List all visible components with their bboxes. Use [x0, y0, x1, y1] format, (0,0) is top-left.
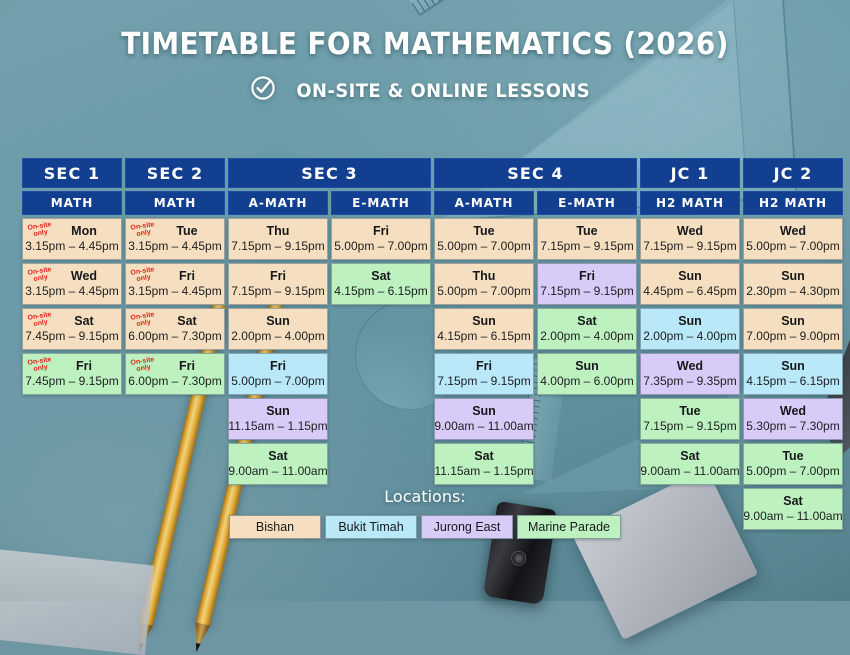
lesson-slot[interactable]: On-siteonlyMon3.15pm – 4.45pm	[22, 218, 122, 260]
lesson-slot[interactable]: Sun11.15am – 1.15pm	[228, 398, 328, 440]
lesson-slot[interactable]: On-siteonlyFri6.00pm – 7.30pm	[125, 353, 225, 395]
subject-column-e-math: E-MATHFri5.00pm – 7.00pmSat4.15pm – 6.15…	[331, 191, 431, 530]
subject-column-e-math: E-MATHTue7.15pm – 9.15pmFri7.15pm – 9.15…	[537, 191, 637, 530]
lesson-slot[interactable]: Sat2.00pm – 4.00pm	[537, 308, 637, 350]
subject-column-math: MATHOn-siteonlyMon3.15pm – 4.45pmOn-site…	[22, 191, 122, 530]
slot-day: Sat	[474, 449, 493, 463]
slot-time: 5.00pm – 7.00pm	[437, 284, 530, 299]
on-site-only-badge: On-siteonly	[27, 311, 53, 329]
timetable-group-jc-1: JC 1H2 MATHWed7.15pm – 9.15pmSun4.45pm –…	[640, 158, 740, 530]
lesson-slot[interactable]: Tue5.00pm – 7.00pm	[743, 443, 843, 485]
slot-time: 6.00pm – 7.30pm	[128, 329, 221, 344]
subtitle-row: ON-SITE & ONLINE LESSONS	[0, 75, 850, 106]
location-chip-list: BishanBukit TimahJurong EastMarine Parad…	[0, 515, 850, 539]
empty-slot	[537, 398, 637, 440]
lesson-slot[interactable]: On-siteonlyFri3.15pm – 4.45pm	[125, 263, 225, 305]
slot-day: Sat	[371, 269, 390, 283]
on-site-only-badge: On-siteonly	[130, 356, 156, 374]
empty-slot	[125, 443, 225, 485]
slot-time: 7.45pm – 9.15pm	[25, 374, 118, 389]
slot-time: 7.15pm – 9.15pm	[231, 239, 324, 254]
slot-day: Sun	[266, 314, 290, 328]
lesson-slot[interactable]: Sat11.15am – 1.15pm	[434, 443, 534, 485]
empty-slot	[125, 398, 225, 440]
slot-day: Sat	[74, 314, 93, 328]
on-site-only-badge: On-siteonly	[27, 221, 53, 239]
subject-header-label: A-MATH	[434, 191, 534, 215]
empty-slot	[22, 398, 122, 440]
slot-time: 2.30pm – 4.30pm	[746, 284, 839, 299]
slot-day: Fri	[476, 359, 492, 373]
lesson-slot[interactable]: On-siteonlySat7.45pm – 9.15pm	[22, 308, 122, 350]
lesson-slot[interactable]: Wed7.35pm – 9.35pm	[640, 353, 740, 395]
slot-time: 3.15pm – 4.45pm	[128, 239, 221, 254]
slot-time: 4.45pm – 6.45pm	[643, 284, 736, 299]
slot-time: 5.30pm – 7.30pm	[746, 419, 839, 434]
slot-time: 7.15pm – 9.15pm	[437, 374, 530, 389]
lesson-slot[interactable]: On-siteonlyWed3.15pm – 4.45pm	[22, 263, 122, 305]
subject-column-a-math: A-MATHThu7.15pm – 9.15pmFri7.15pm – 9.15…	[228, 191, 328, 530]
slot-day: Sun	[472, 314, 496, 328]
slot-day: Sun	[472, 404, 496, 418]
empty-slot	[22, 443, 122, 485]
slot-day: Fri	[579, 269, 595, 283]
lesson-slot[interactable]: Tue5.00pm – 7.00pm	[434, 218, 534, 260]
lesson-slot[interactable]: Fri5.00pm – 7.00pm	[228, 353, 328, 395]
slot-day: Mon	[71, 224, 97, 238]
group-header-label: SEC 2	[125, 158, 225, 188]
slot-time: 3.15pm – 4.45pm	[128, 284, 221, 299]
slot-day: Thu	[267, 224, 290, 238]
subject-column-math: MATHOn-siteonlyTue3.15pm – 4.45pmOn-site…	[125, 191, 225, 530]
on-site-only-badge: On-siteonly	[130, 221, 156, 239]
on-site-only-badge: On-siteonly	[27, 266, 53, 284]
slot-time: 5.00pm – 7.00pm	[746, 239, 839, 254]
lesson-slot[interactable]: Sat9.00am – 11.00am	[640, 443, 740, 485]
slot-day: Tue	[576, 224, 597, 238]
timetable-group-sec-3: SEC 3A-MATHThu7.15pm – 9.15pmFri7.15pm –…	[228, 158, 431, 530]
slot-day: Fri	[270, 269, 286, 283]
slot-day: Sun	[781, 314, 805, 328]
slot-time: 3.15pm – 4.45pm	[25, 239, 118, 254]
poster-header: TIMETABLE FOR MATHEMATICS (2026) ON-SITE…	[0, 0, 850, 106]
lesson-slot[interactable]: Thu5.00pm – 7.00pm	[434, 263, 534, 305]
slot-day: Wed	[780, 404, 806, 418]
lesson-slot[interactable]: Wed7.15pm – 9.15pm	[640, 218, 740, 260]
subject-column-a-math: A-MATHTue5.00pm – 7.00pmThu5.00pm – 7.00…	[434, 191, 534, 530]
on-site-only-badge: On-siteonly	[27, 356, 53, 374]
slot-day: Sun	[781, 269, 805, 283]
slot-day: Sun	[678, 314, 702, 328]
slot-day: Tue	[679, 404, 700, 418]
timetable-group-sec-2: SEC 2MATHOn-siteonlyTue3.15pm – 4.45pmOn…	[125, 158, 225, 530]
slot-day: Sun	[678, 269, 702, 283]
slot-time: 7.45pm – 9.15pm	[25, 329, 118, 344]
locations-label: Locations:	[0, 487, 850, 506]
subtitle-text: ON-SITE & ONLINE LESSONS	[297, 80, 591, 102]
lesson-slot[interactable]: Sat9.00am – 11.00am	[228, 443, 328, 485]
empty-slot	[331, 398, 431, 440]
location-chip-bishan[interactable]: Bishan	[229, 515, 321, 539]
lesson-slot[interactable]: Sun9.00am – 11.00am	[434, 398, 534, 440]
slot-time: 5.00pm – 7.00pm	[231, 374, 324, 389]
slot-time: 2.00pm – 4.00pm	[540, 329, 633, 344]
slot-time: 5.00pm – 7.00pm	[437, 239, 530, 254]
slot-time: 7.35pm – 9.35pm	[643, 374, 736, 389]
lesson-slot[interactable]: Fri7.15pm – 9.15pm	[537, 263, 637, 305]
slot-time: 7.15pm – 9.15pm	[643, 239, 736, 254]
location-chip-jurong-east[interactable]: Jurong East	[421, 515, 513, 539]
empty-slot	[537, 443, 637, 485]
lesson-slot[interactable]: On-siteonlySat6.00pm – 7.30pm	[125, 308, 225, 350]
locations-legend: Locations: BishanBukit TimahJurong EastM…	[0, 487, 850, 539]
lesson-slot[interactable]: Fri7.15pm – 9.15pm	[434, 353, 534, 395]
slot-time: 7.15pm – 9.15pm	[540, 239, 633, 254]
slot-time: 4.15pm – 6.15pm	[746, 374, 839, 389]
slot-time: 11.15am – 1.15pm	[228, 419, 327, 434]
subject-column-h2-math: H2 MATHWed7.15pm – 9.15pmSun4.45pm – 6.4…	[640, 191, 740, 530]
slot-day: Wed	[677, 359, 703, 373]
timetable-group-sec-4: SEC 4A-MATHTue5.00pm – 7.00pmThu5.00pm –…	[434, 158, 637, 530]
group-header-label: JC 2	[743, 158, 843, 188]
subject-header-label: E-MATH	[331, 191, 431, 215]
on-site-only-badge: On-siteonly	[130, 266, 156, 284]
slot-time: 7.15pm – 9.15pm	[540, 284, 633, 299]
slot-day: Wed	[71, 269, 97, 283]
lesson-slot[interactable]: Sun4.45pm – 6.45pm	[640, 263, 740, 305]
slot-day: Fri	[270, 359, 286, 373]
group-subject-columns: MATHOn-siteonlyMon3.15pm – 4.45pmOn-site…	[22, 191, 122, 530]
slot-day: Fri	[179, 359, 195, 373]
lesson-slot[interactable]: Sun2.00pm – 4.00pm	[228, 308, 328, 350]
subject-header-label: A-MATH	[228, 191, 328, 215]
lesson-slot[interactable]: Tue7.15pm – 9.15pm	[537, 218, 637, 260]
group-header-label: JC 1	[640, 158, 740, 188]
lesson-slot[interactable]: Sun4.15pm – 6.15pm	[434, 308, 534, 350]
lesson-slot[interactable]: Sun4.00pm – 6.00pm	[537, 353, 637, 395]
slot-day: Thu	[473, 269, 496, 283]
slot-time: 6.00pm – 7.30pm	[128, 374, 221, 389]
slot-day: Fri	[76, 359, 92, 373]
slot-day: Sun	[781, 359, 805, 373]
lesson-slot[interactable]: Wed5.30pm – 7.30pm	[743, 398, 843, 440]
subject-header-label: E-MATH	[537, 191, 637, 215]
page-title: TIMETABLE FOR MATHEMATICS (2026)	[30, 27, 821, 62]
slot-time: 11.15am – 1.15pm	[434, 464, 533, 479]
lesson-slot[interactable]: Fri5.00pm – 7.00pm	[331, 218, 431, 260]
lesson-slot[interactable]: On-siteonlyFri7.45pm – 9.15pm	[22, 353, 122, 395]
slot-time: 7.15pm – 9.15pm	[643, 419, 736, 434]
group-subject-columns: MATHOn-siteonlyTue3.15pm – 4.45pmOn-site…	[125, 191, 225, 530]
slot-time: 2.00pm – 4.00pm	[231, 329, 324, 344]
subject-header-label: H2 MATH	[743, 191, 843, 215]
lesson-slot[interactable]: On-siteonlyTue3.15pm – 4.45pm	[125, 218, 225, 260]
slot-day: Sat	[680, 449, 699, 463]
group-subject-columns: H2 MATHWed7.15pm – 9.15pmSun4.45pm – 6.4…	[640, 191, 740, 530]
group-subject-columns: A-MATHThu7.15pm – 9.15pmFri7.15pm – 9.15…	[228, 191, 431, 530]
lesson-slot[interactable]: Sun2.00pm – 4.00pm	[640, 308, 740, 350]
timetable-group-jc-2: JC 2H2 MATHWed5.00pm – 7.00pmSun2.30pm –…	[743, 158, 843, 530]
slot-time: 5.00pm – 7.00pm	[746, 464, 839, 479]
slot-day: Wed	[780, 224, 806, 238]
group-header-label: SEC 4	[434, 158, 637, 188]
slot-time: 9.00am – 11.00am	[434, 419, 533, 434]
slot-time: 3.15pm – 4.45pm	[25, 284, 118, 299]
slot-time: 4.15pm – 6.15pm	[437, 329, 530, 344]
slot-time: 9.00am – 11.00am	[640, 464, 739, 479]
slot-day: Sun	[266, 404, 290, 418]
slot-day: Fri	[179, 269, 195, 283]
lesson-slot[interactable]: Sun7.00pm – 9.00pm	[743, 308, 843, 350]
lesson-slot[interactable]: Fri7.15pm – 9.15pm	[228, 263, 328, 305]
slot-time: 7.00pm – 9.00pm	[746, 329, 839, 344]
subject-column-h2-math: H2 MATHWed5.00pm – 7.00pmSun2.30pm – 4.3…	[743, 191, 843, 530]
slot-time: 4.00pm – 6.00pm	[540, 374, 633, 389]
lesson-slot[interactable]: Sun2.30pm – 4.30pm	[743, 263, 843, 305]
location-chip-bukit-timah[interactable]: Bukit Timah	[325, 515, 417, 539]
subject-header-label: H2 MATH	[640, 191, 740, 215]
group-header-label: SEC 3	[228, 158, 431, 188]
empty-slot	[331, 308, 431, 350]
slot-day: Sun	[575, 359, 599, 373]
slot-time: 2.00pm – 4.00pm	[643, 329, 736, 344]
slot-time: 9.00am – 11.00am	[228, 464, 327, 479]
slot-day: Wed	[677, 224, 703, 238]
on-site-only-badge: On-siteonly	[130, 311, 156, 329]
subject-header-label: MATH	[125, 191, 225, 215]
slot-time: 7.15pm – 9.15pm	[231, 284, 324, 299]
group-subject-columns: H2 MATHWed5.00pm – 7.00pmSun2.30pm – 4.3…	[743, 191, 843, 530]
empty-slot	[331, 443, 431, 485]
check-circle-icon	[250, 75, 276, 106]
subject-header-label: MATH	[22, 191, 122, 215]
empty-slot	[331, 353, 431, 395]
group-subject-columns: A-MATHTue5.00pm – 7.00pmThu5.00pm – 7.00…	[434, 191, 637, 530]
lesson-slot[interactable]: Thu7.15pm – 9.15pm	[228, 218, 328, 260]
lesson-slot[interactable]: Tue7.15pm – 9.15pm	[640, 398, 740, 440]
slot-day: Sat	[268, 449, 287, 463]
timetable-group-sec-1: SEC 1MATHOn-siteonlyMon3.15pm – 4.45pmOn…	[22, 158, 122, 530]
slot-time: 5.00pm – 7.00pm	[334, 239, 427, 254]
slot-time: 4.15pm – 6.15pm	[334, 284, 427, 299]
group-header-label: SEC 1	[22, 158, 122, 188]
timetable-grid: SEC 1MATHOn-siteonlyMon3.15pm – 4.45pmOn…	[22, 158, 828, 530]
slot-day: Tue	[782, 449, 803, 463]
slot-day: Tue	[176, 224, 197, 238]
lesson-slot[interactable]: Sat4.15pm – 6.15pm	[331, 263, 431, 305]
slot-day: Sat	[177, 314, 196, 328]
slot-day: Sat	[577, 314, 596, 328]
slot-day: Fri	[373, 224, 389, 238]
lesson-slot[interactable]: Sun4.15pm – 6.15pm	[743, 353, 843, 395]
location-chip-marine-parade[interactable]: Marine Parade	[517, 515, 621, 539]
lesson-slot[interactable]: Wed5.00pm – 7.00pm	[743, 218, 843, 260]
slot-day: Tue	[473, 224, 494, 238]
